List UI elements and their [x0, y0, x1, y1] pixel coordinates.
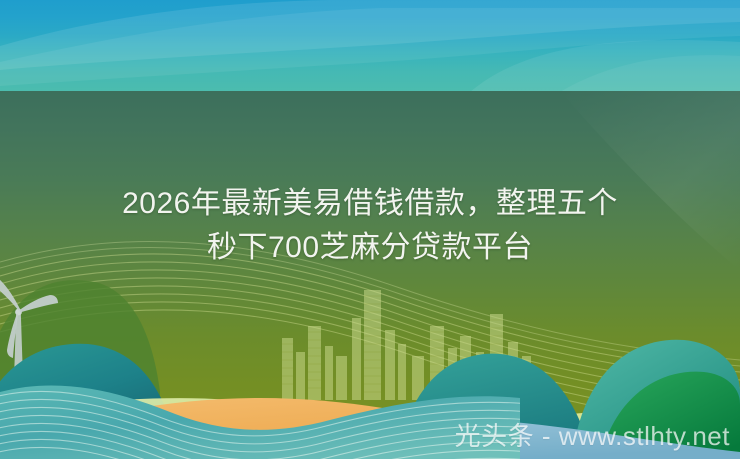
teal-wave-lines: [0, 0, 740, 459]
banner-graphic: 2026年最新美易借钱借款，整理五个 秒下700芝麻分贷款平台 光头条 - ww…: [0, 0, 740, 459]
